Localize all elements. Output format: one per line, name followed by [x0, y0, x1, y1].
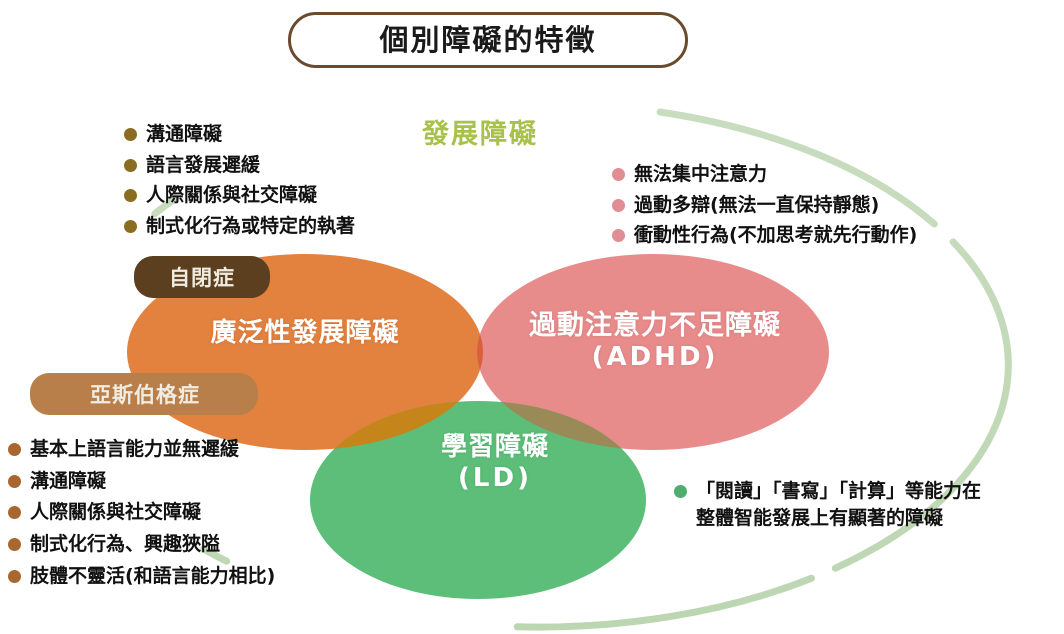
bullet-dot-icon: [124, 220, 137, 233]
list-item: 人際關係與社交障礙: [124, 183, 355, 209]
subtype-pill-autism-label: 自閉症: [169, 262, 235, 292]
feature-list-autism-traits: 溝通障礙 語言發展遲緩 人際關係與社交障礙 制式化行為或特定的執著: [124, 122, 355, 245]
list-item-label: 溝通障礙: [30, 469, 106, 495]
bullet-dot-icon: [8, 506, 21, 519]
list-item-label: 溝通障礙: [146, 122, 222, 148]
feature-list-adhd-traits: 無法集中注意力 過動多辯(無法一直保持靜態) 衝動性行為(不加思考就先行動作): [612, 162, 917, 254]
list-item-label: 「閱讀」「書寫」「計算」等能力在整體智能發展上有顯著的障礙: [696, 478, 986, 532]
list-item-label: 基本上語言能力並無遲緩: [30, 437, 239, 463]
diagram-canvas: 個別障礙的特徵 發展障礙: [0, 0, 1064, 634]
list-item: 「閱讀」「書寫」「計算」等能力在整體智能發展上有顯著的障礙: [674, 478, 986, 532]
list-item-label: 人際關係與社交障礙: [146, 183, 317, 209]
feature-list-ld-traits: 「閱讀」「書寫」「計算」等能力在整體智能發展上有顯著的障礙: [674, 478, 986, 537]
list-item: 人際關係與社交障礙: [8, 500, 275, 526]
list-item-label: 肢體不靈活(和語言能力相比): [30, 564, 275, 590]
list-item-label: 人際關係與社交障礙: [30, 500, 201, 526]
list-item-label: 無法集中注意力: [634, 162, 767, 188]
list-item: 溝通障礙: [124, 122, 355, 148]
bullet-dot-icon: [612, 229, 625, 242]
list-item-label: 制式化行為或特定的執著: [146, 214, 355, 240]
list-item-label: 制式化行為、興趣狹隘: [30, 532, 220, 558]
list-item: 過動多辯(無法一直保持靜態): [612, 193, 917, 219]
bullet-dot-icon: [124, 128, 137, 141]
list-item: 語言發展遲緩: [124, 153, 355, 179]
list-item: 無法集中注意力: [612, 162, 917, 188]
bullet-dot-icon: [8, 538, 21, 551]
bullet-dot-icon: [612, 199, 625, 212]
list-item: 基本上語言能力並無遲緩: [8, 437, 275, 463]
list-item: 溝通障礙: [8, 469, 275, 495]
subtype-pill-asperger-label: 亞斯伯格症: [90, 379, 200, 409]
subtype-pill-autism: 自閉症: [134, 256, 270, 298]
bullet-dot-icon: [8, 475, 21, 488]
feature-list-asperger-traits: 基本上語言能力並無遲緩 溝通障礙 人際關係與社交障礙 制式化行為、興趣狹隘 肢體…: [8, 437, 275, 595]
bullet-dot-icon: [124, 159, 137, 172]
list-item: 制式化行為、興趣狹隘: [8, 532, 275, 558]
list-item-label: 語言發展遲緩: [146, 153, 260, 179]
list-item-label: 衝動性行為(不加思考就先行動作): [634, 223, 917, 249]
bullet-dot-icon: [8, 570, 21, 583]
bullet-dot-icon: [124, 189, 137, 202]
list-item: 制式化行為或特定的執著: [124, 214, 355, 240]
list-item: 肢體不靈活(和語言能力相比): [8, 564, 275, 590]
bullet-dot-icon: [612, 168, 625, 181]
bullet-dot-icon: [8, 443, 21, 456]
list-item-label: 過動多辯(無法一直保持靜態): [634, 193, 879, 219]
bullet-dot-icon: [674, 485, 687, 498]
subtype-pill-asperger: 亞斯伯格症: [30, 373, 258, 415]
list-item: 衝動性行為(不加思考就先行動作): [612, 223, 917, 249]
